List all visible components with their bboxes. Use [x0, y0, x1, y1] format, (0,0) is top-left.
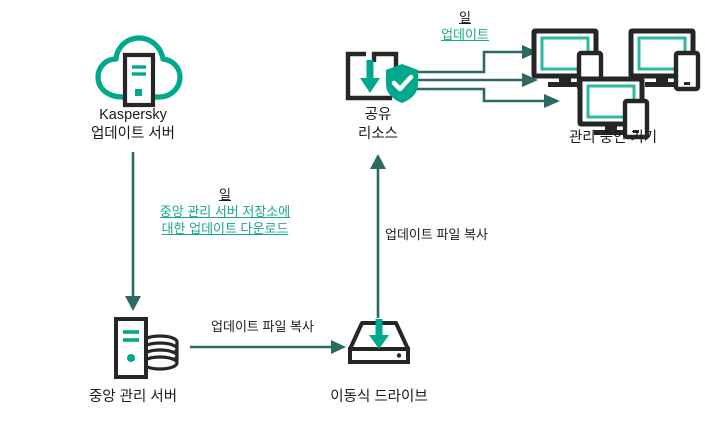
cloud-server-icon	[93, 33, 185, 105]
edge-label-removable-drive-to-shared-resource: 업데이트 파일 복사	[385, 226, 540, 243]
node-label-kaspersky-update-server: Kaspersky 업데이트 서버	[33, 106, 233, 144]
kaspersky-update-server-label-line2: 업데이트 서버	[33, 125, 233, 144]
node-label-administration-server: 중앙 관리 서버	[48, 388, 218, 407]
kaspersky-update-server-label-line1: Kaspersky	[33, 106, 233, 125]
removable-drive-icon	[348, 319, 410, 367]
edge-description-update: 업데이트	[405, 26, 525, 43]
managed-devices-icon	[531, 28, 703, 128]
edge-frequency-daily-2: 일	[405, 9, 525, 26]
node-label-shared-resource: 공유 리소스	[318, 106, 438, 144]
shared-folder-shield-icon	[344, 50, 420, 108]
edge-description-line2: 대한 업데이트 다운로드	[145, 220, 305, 237]
edge-label-kaspersky-to-admin-server: 일 중앙 관리 서버 저장소에 대한 업데이트 다운로드	[145, 186, 305, 237]
connector-removable-drive-to-shared-resource	[370, 154, 386, 318]
node-label-managed-devices: 관리 중인 기기	[533, 129, 693, 148]
administration-server-label-line1: 중앙 관리 서버	[48, 388, 218, 407]
shared-resource-label-line2: 리소스	[318, 125, 438, 144]
connector-admin-server-to-removable-drive	[190, 340, 346, 354]
edge-description-copy-update-files-2: 업데이트 파일 복사	[385, 226, 540, 243]
edge-description-copy-update-files-1: 업데이트 파일 복사	[185, 318, 340, 335]
removable-drive-label-line1: 이동식 드라이브	[294, 388, 464, 407]
server-database-icon	[102, 316, 188, 380]
connector-kaspersky-to-admin-server	[125, 152, 141, 311]
edge-description-line1: 중앙 관리 서버 저장소에	[145, 203, 305, 220]
managed-devices-label-line1: 관리 중인 기기	[533, 129, 693, 148]
edge-label-admin-server-to-removable-drive: 업데이트 파일 복사	[185, 318, 340, 335]
diagram-canvas: Kaspersky 업데이트 서버 일 중앙 관리 서버 저장소에 대한 업데이…	[0, 0, 705, 436]
edge-label-shared-resource-to-managed-devices: 일 업데이트	[405, 9, 525, 43]
edge-frequency-daily: 일	[145, 186, 305, 203]
shared-resource-label-line1: 공유	[318, 106, 438, 125]
node-label-removable-drive: 이동식 드라이브	[294, 388, 464, 407]
